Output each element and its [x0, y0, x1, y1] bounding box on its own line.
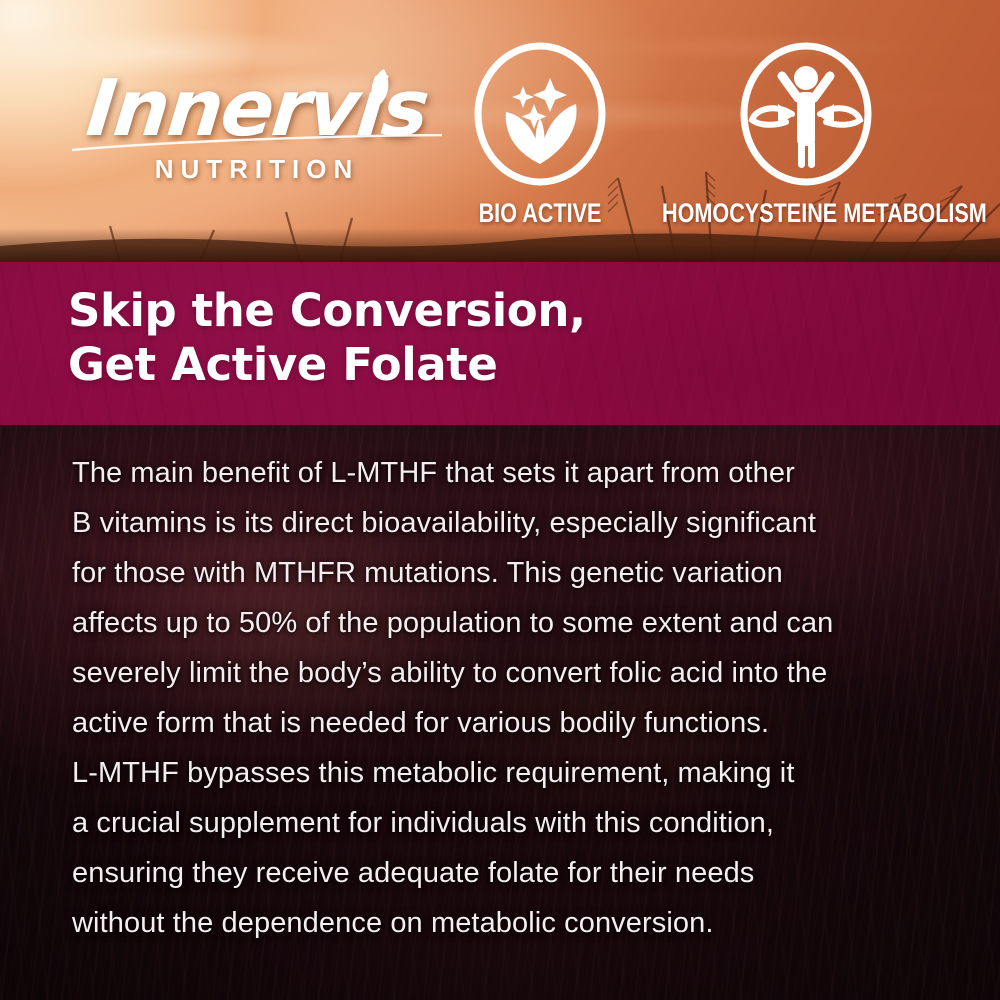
- body-line: ensuring they receive adequate folate fo…: [72, 848, 932, 898]
- body-line: active form that is needed for various b…: [72, 698, 932, 748]
- page-title: Skip the Conversion, Get Active Folate: [68, 284, 586, 392]
- badge-homocysteine-metabolism: HOMOCYSTEINE METABOLISM: [626, 42, 986, 229]
- body-line: a crucial supplement for individuals wit…: [72, 798, 932, 848]
- body-line: severely limit the body’s ability to con…: [72, 648, 932, 698]
- headline-line-2: Get Active Folate: [68, 338, 586, 392]
- badge-label-bio-active: BIO ACTIVE: [478, 198, 603, 229]
- feature-badges: BIO ACTIVE HOMOCYSTEINE METABOLISM: [462, 42, 986, 232]
- body-line: L-MTHF bypasses this metabolic requireme…: [72, 748, 932, 798]
- body-line: The main benefit of L-MTHF that sets it …: [72, 448, 932, 498]
- brand-tagline: NUTRITION: [62, 154, 452, 185]
- body-line: for those with MTHFR mutations. This gen…: [72, 548, 932, 598]
- headline-line-1: Skip the Conversion,: [68, 284, 586, 337]
- brand-logo: Innervis NUTRITION: [62, 72, 452, 185]
- brand-name: Innervis: [58, 72, 456, 146]
- horizon-shade: [0, 228, 1000, 262]
- body-paragraph: The main benefit of L-MTHF that sets it …: [72, 448, 932, 948]
- headline-band: Skip the Conversion, Get Active Folate: [0, 262, 1000, 425]
- header-sunset-photo: Innervis NUTRITION BI: [0, 0, 1000, 262]
- body-line: affects up to 50% of the population to s…: [72, 598, 932, 648]
- badge-bio-active: BIO ACTIVE: [462, 42, 618, 229]
- badge-label-homocysteine-metabolism: HOMOCYSTEINE METABOLISM: [662, 198, 950, 229]
- body-line: B vitamins is its direct bioavailability…: [72, 498, 932, 548]
- leaves-sparkle-icon: [464, 42, 616, 194]
- body-line: without the dependence on metabolic conv…: [72, 898, 932, 948]
- product-info-banner: Innervis NUTRITION BI: [0, 0, 1000, 1000]
- person-arrows-icon: [730, 42, 882, 194]
